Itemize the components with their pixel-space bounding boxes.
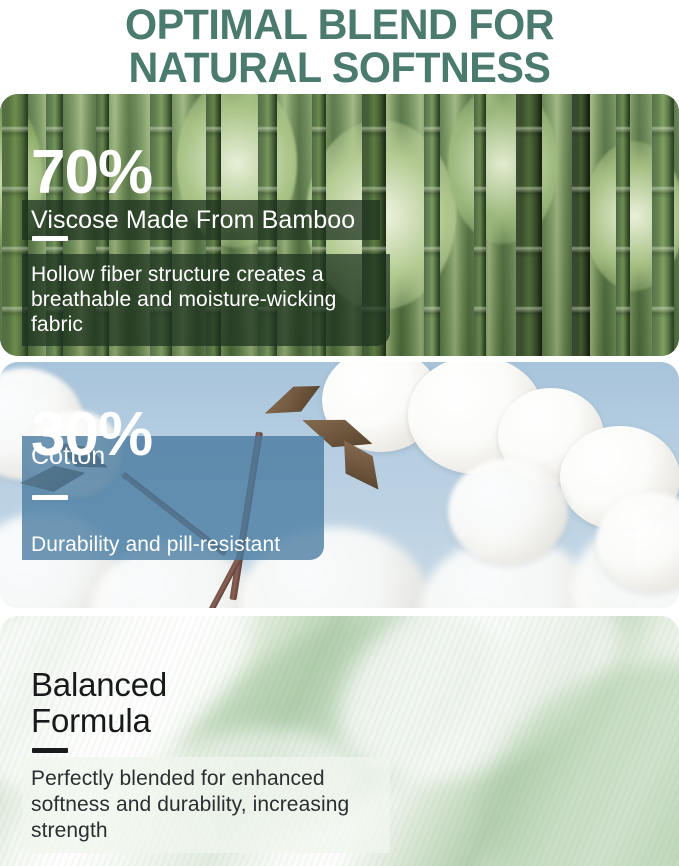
balanced-description: Perfectly blended for enhanced softness … xyxy=(31,766,376,844)
card-cotton: 30% Cotton Durability and pill-resistant xyxy=(0,362,679,608)
card-bamboo: 70% Viscose Made From Bamboo Hollow fibe… xyxy=(0,94,679,356)
cotton-divider-dash xyxy=(32,495,68,500)
bamboo-percentage: 70% xyxy=(31,142,152,204)
cotton-description: Durability and pill-resistant xyxy=(31,532,331,557)
bamboo-divider-dash xyxy=(32,236,68,241)
page-title-line-2: NATURAL SOFTNESS xyxy=(14,47,666,90)
bamboo-description: Hollow fiber structure creates a breatha… xyxy=(31,262,379,337)
bamboo-material-label: Viscose Made From Bamboo xyxy=(31,206,355,234)
balanced-title-line-1: Balanced xyxy=(31,666,167,703)
infographic-page: OPTIMAL BLEND FOR NATURAL SOFTNESS xyxy=(0,0,679,866)
page-title-line-1: OPTIMAL BLEND FOR xyxy=(14,4,666,47)
page-title: OPTIMAL BLEND FOR NATURAL SOFTNESS xyxy=(0,0,679,90)
balanced-title-line-2: Formula xyxy=(31,702,151,739)
cotton-material-label: Cotton xyxy=(31,442,105,470)
balanced-divider-dash xyxy=(32,748,68,753)
card-balanced-formula: Balanced Formula Perfectly blended for e… xyxy=(0,616,679,866)
